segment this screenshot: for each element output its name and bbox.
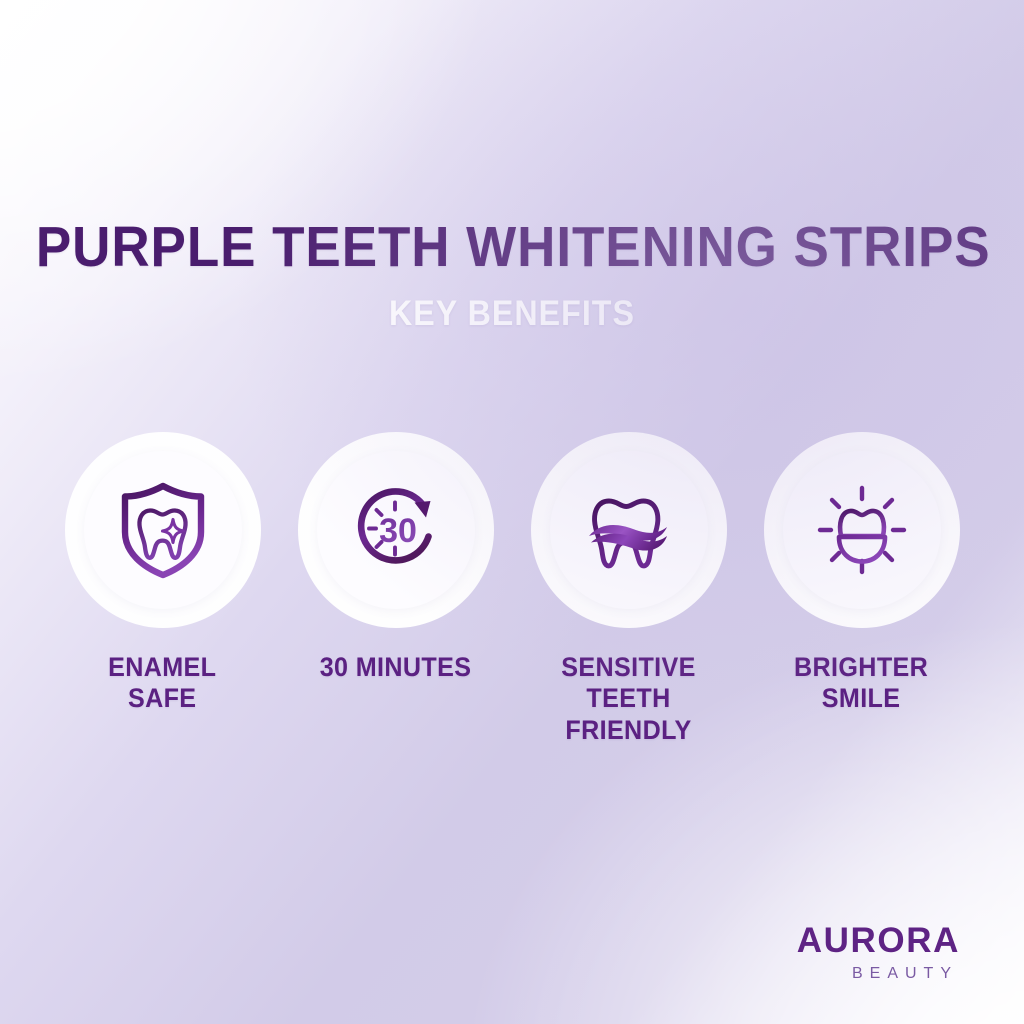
tooth-wave-ribbon-icon xyxy=(573,474,685,586)
icon-circle-30-minutes: 30 xyxy=(298,432,494,628)
brand-tagline: BEAUTY xyxy=(797,966,960,982)
poster-canvas: PURPLE TEETH WHITENING STRIPS KEY BENEFI… xyxy=(0,0,1024,1024)
brand-name: AURORA xyxy=(797,923,960,958)
benefit-item-30-minutes[interactable]: 30 30 MINUTES xyxy=(279,432,512,683)
benefit-item-brighter-smile[interactable]: BRIGHTER SMILE xyxy=(745,432,978,715)
page-title: PURPLE TEETH WHITENING STRIPS xyxy=(36,219,988,276)
icon-circle-enamel-safe xyxy=(65,432,261,628)
page-subtitle: KEY BENEFITS xyxy=(41,296,983,331)
icon-circle-sensitive-teeth xyxy=(531,432,727,628)
benefits-row: ENAMEL SAFE xyxy=(0,432,1024,746)
timer-30-minutes-icon: 30 xyxy=(340,474,452,586)
benefit-label-30-minutes: 30 MINUTES xyxy=(320,652,472,683)
benefit-item-sensitive-teeth[interactable]: SENSITIVE TEETH FRIENDLY xyxy=(512,432,745,746)
brand-logo: AURORA BEAUTY xyxy=(797,923,960,982)
shining-smile-sun-icon xyxy=(806,474,918,586)
benefit-label-brighter-smile: BRIGHTER SMILE xyxy=(794,652,928,715)
shield-tooth-sparkle-icon xyxy=(107,474,219,586)
timer-value-text: 30 xyxy=(379,512,417,550)
benefit-label-sensitive-teeth: SENSITIVE TEETH FRIENDLY xyxy=(520,652,737,746)
heading-block: PURPLE TEETH WHITENING STRIPS KEY BENEFI… xyxy=(0,219,1024,331)
icon-circle-brighter-smile xyxy=(764,432,960,628)
benefit-item-enamel-safe[interactable]: ENAMEL SAFE xyxy=(46,432,279,715)
benefit-label-enamel-safe: ENAMEL SAFE xyxy=(108,652,216,715)
